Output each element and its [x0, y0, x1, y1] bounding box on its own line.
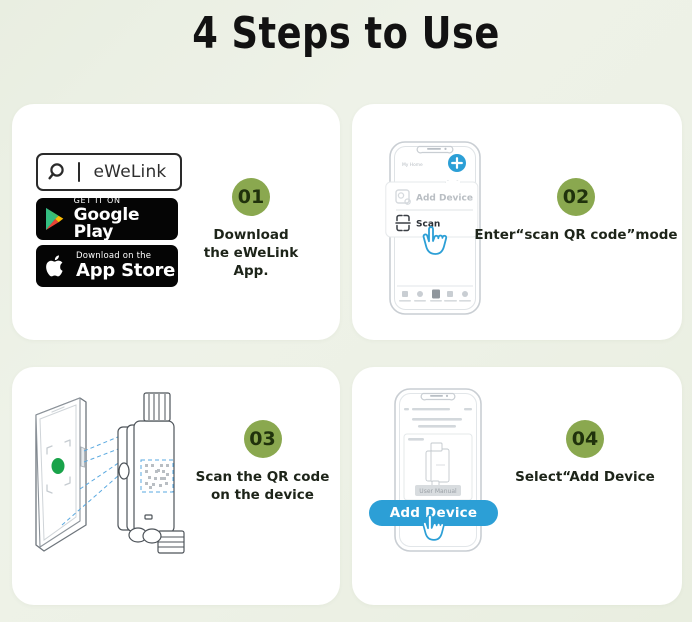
- step-1-info: 01 Download the eWeLink App.: [185, 178, 317, 281]
- app-store-small-text: Download on the: [76, 252, 175, 261]
- hand-pointer-icon: [418, 215, 462, 267]
- app-store-big-text: App Store: [76, 262, 175, 280]
- svg-text:My Home: My Home: [402, 162, 423, 168]
- step-3-info: 03 Scan the QR code on the device: [180, 420, 345, 504]
- page-title: 4 Steps to Use: [24, 8, 668, 59]
- step-caption-3: Scan the QR code on the device: [180, 468, 345, 504]
- search-input-value: eWeLink: [80, 162, 180, 182]
- svg-text:Add Device: Add Device: [416, 194, 473, 204]
- phone-scanning-icon: [36, 398, 86, 551]
- step-4-info: 04 Select“Add Device: [490, 420, 680, 486]
- svg-text:User Manual: User Manual: [419, 488, 457, 495]
- search-icon: [38, 161, 78, 183]
- step-number-badge-2: 02: [557, 178, 595, 216]
- google-play-badge[interactable]: GET IT ON Google Play: [36, 198, 178, 240]
- step-caption-2: Enter“scan QR code”mode: [468, 226, 684, 244]
- step-number-badge-3: 03: [244, 420, 282, 458]
- step-2-info: 02 Enter“scan QR code”mode: [468, 178, 684, 244]
- step-3-scan-illustration: [14, 385, 204, 575]
- hand-pointer-icon: [418, 505, 458, 551]
- step-caption-4: Select“Add Device: [490, 468, 680, 486]
- infographic-page: 4 Steps to Use eWeLink GET IT ON Goo: [0, 0, 692, 622]
- google-play-small-text: GET IT ON: [74, 198, 178, 205]
- app-store-badge[interactable]: Download on the App Store: [36, 245, 178, 287]
- google-play-big-text: Google Play: [74, 207, 178, 240]
- step-number-badge-4: 04: [566, 420, 604, 458]
- ewelink-search-box[interactable]: eWeLink: [36, 153, 182, 191]
- water-timer-device-icon: [118, 393, 184, 553]
- step-number-badge-1: 01: [232, 178, 270, 216]
- google-play-icon: [36, 206, 74, 232]
- step-caption-1: Download the eWeLink App.: [185, 226, 317, 281]
- apple-icon: [36, 253, 76, 279]
